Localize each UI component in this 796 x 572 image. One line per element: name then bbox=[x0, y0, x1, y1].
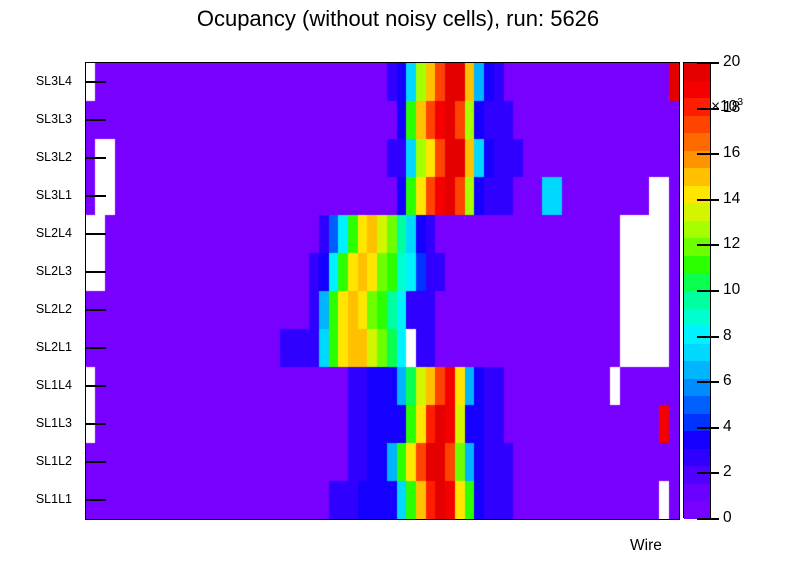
colorbar-segment bbox=[684, 344, 710, 361]
colorbar-tick bbox=[697, 199, 719, 201]
colorbar-segment bbox=[684, 63, 710, 81]
colorbar-segment bbox=[684, 133, 710, 151]
x-axis bbox=[85, 518, 680, 568]
colorbar-segment bbox=[684, 81, 710, 98]
y-axis-label-sl2l4: SL2L4 bbox=[36, 226, 72, 240]
colorbar-segment bbox=[684, 484, 710, 501]
colorbar-segment bbox=[684, 168, 710, 186]
y-axis-tick bbox=[86, 385, 106, 387]
colorbar-segment bbox=[684, 221, 710, 238]
colorbar-segment bbox=[684, 449, 710, 466]
colorbar-segment bbox=[684, 256, 710, 273]
y-axis-label-sl1l4: SL1L4 bbox=[36, 378, 72, 392]
colorbar-tick-label: 8 bbox=[723, 327, 732, 345]
plot-area[interactable] bbox=[85, 62, 680, 520]
colorbar-segment bbox=[684, 466, 710, 484]
colorbar-segment bbox=[684, 361, 710, 379]
colorbar-tick bbox=[697, 472, 719, 474]
y-axis: SL3L4SL3L3SL3L2SL3L1SL2L4SL2L3SL2L2SL2L1… bbox=[0, 62, 84, 518]
colorbar-tick bbox=[697, 518, 719, 520]
y-axis-tick bbox=[86, 347, 106, 349]
colorbar-tick bbox=[697, 62, 719, 64]
colorbar-tick bbox=[697, 108, 719, 110]
colorbar-tick-label: 10 bbox=[723, 281, 740, 299]
colorbar-segment bbox=[684, 501, 710, 519]
colorbar-segment bbox=[684, 396, 710, 414]
root-canvas: Ocupancy (without noisy cells), run: 562… bbox=[0, 0, 796, 572]
colorbar-segment bbox=[684, 238, 710, 256]
y-axis-label-sl3l2: SL3L2 bbox=[36, 150, 72, 164]
x-axis-title: Wire bbox=[630, 537, 662, 555]
y-axis-label-sl2l3: SL2L3 bbox=[36, 264, 72, 278]
y-axis-label-sl3l3: SL3L3 bbox=[36, 112, 72, 126]
colorbar-tick-label: 12 bbox=[723, 235, 740, 253]
y-axis-tick bbox=[86, 81, 106, 83]
colorbar-tick bbox=[697, 336, 719, 338]
colorbar-tick bbox=[697, 153, 719, 155]
colorbar-tick-label: 16 bbox=[723, 144, 740, 162]
colorbar-segment bbox=[684, 291, 710, 309]
y-axis-tick bbox=[86, 271, 106, 273]
colorbar-tick-label: 2 bbox=[723, 463, 732, 481]
y-axis-label-sl2l1: SL2L1 bbox=[36, 340, 72, 354]
colorbar-segment bbox=[684, 309, 710, 326]
colorbar-tick-label: 4 bbox=[723, 418, 732, 436]
colorbar-tick-label: 6 bbox=[723, 372, 732, 390]
y-axis-tick bbox=[86, 461, 106, 463]
colorbar-segment bbox=[684, 431, 710, 449]
y-axis-tick bbox=[86, 119, 106, 121]
y-axis-tick bbox=[86, 423, 106, 425]
page-title: Ocupancy (without noisy cells), run: 562… bbox=[0, 6, 796, 32]
y-axis-label-sl3l4: SL3L4 bbox=[36, 74, 72, 88]
heatmap-canvas[interactable] bbox=[86, 63, 679, 519]
y-axis-tick bbox=[86, 157, 106, 159]
colorbar-segment bbox=[684, 203, 710, 221]
colorbar-tick bbox=[697, 381, 719, 383]
y-axis-tick bbox=[86, 309, 106, 311]
colorbar-tick bbox=[697, 427, 719, 429]
colorbar-tick bbox=[697, 244, 719, 246]
colorbar-tick-label: 18 bbox=[723, 99, 740, 117]
y-axis-tick bbox=[86, 195, 106, 197]
colorbar-tick-label: 14 bbox=[723, 190, 740, 208]
y-axis-tick bbox=[86, 233, 106, 235]
colorbar-tick bbox=[697, 290, 719, 292]
y-axis-tick bbox=[86, 499, 106, 501]
colorbar-tick-label: 0 bbox=[723, 509, 732, 527]
y-axis-label-sl2l2: SL2L2 bbox=[36, 302, 72, 316]
colorbar-segment bbox=[684, 116, 710, 133]
y-axis-label-sl1l2: SL1L2 bbox=[36, 454, 72, 468]
y-axis-label-sl3l1: SL3L1 bbox=[36, 188, 72, 202]
colorbar-tick-label: 20 bbox=[723, 53, 740, 71]
colorbar-segment bbox=[684, 273, 710, 291]
colorbar: ×103 02468101214161820 bbox=[683, 62, 793, 518]
y-axis-label-sl1l1: SL1L1 bbox=[36, 492, 72, 506]
y-axis-label-sl1l3: SL1L3 bbox=[36, 416, 72, 430]
